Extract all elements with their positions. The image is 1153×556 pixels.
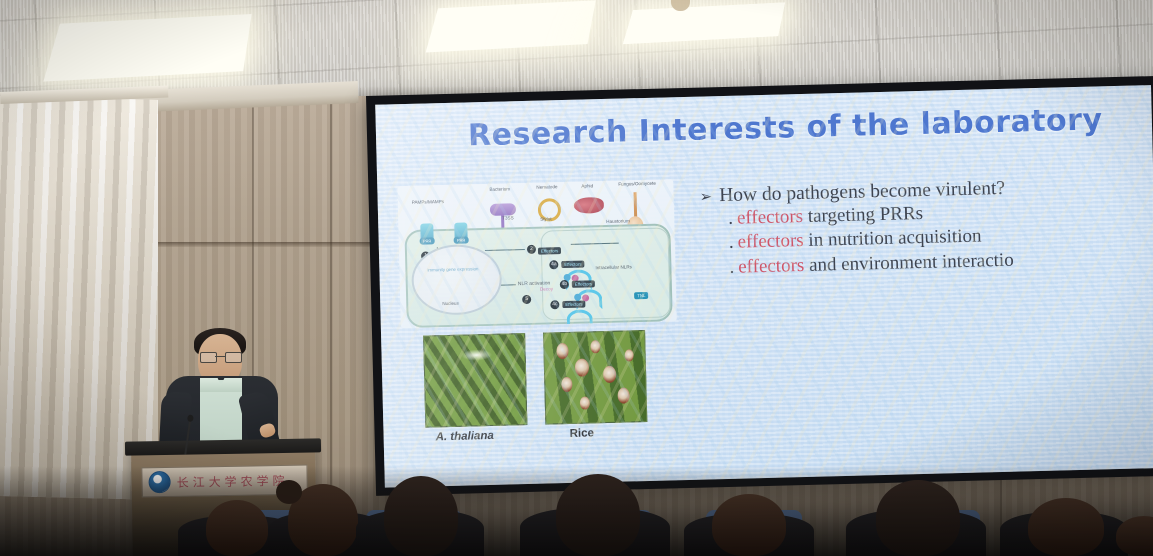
bullet-rest-3: and environment interactio [804,249,1014,275]
diagram-label-prr-1: PRR [420,237,435,244]
diagram-label-nematode: Nematode [536,184,557,190]
speaker-glasses-icon [200,352,240,361]
slide-title: Research Interests of the laboratory [468,101,1153,154]
diagram-label-nucleus: Nucleus [442,301,459,306]
tnl-pill: TNL [634,292,648,299]
effectors-pill-2: Effectors [561,261,584,269]
bullet-arrow-icon: ➢ [699,187,712,205]
diagram-label-haustorium: Haustorium [606,218,630,224]
blast-lesion [575,358,589,376]
lecture-hall-screenshot: Research Interests of the laboratory ➢Ho… [0,0,1153,556]
bullet-dot-marker: . [728,208,733,229]
bullet-dot-marker: . [729,232,734,253]
ceiling-light-panel-2 [426,0,596,52]
diagram-label-intracellular-nlrs: Intracellular NLRs [595,264,632,270]
photo-arabidopsis [423,333,527,428]
podium-nameplate-text: 长江大学农学院 [176,471,288,490]
ceiling-light-panel-1 [43,14,251,82]
aphid-icon [574,197,604,214]
slide-bullet-block: ➢How do pathogens become virulent? .effe… [699,172,1153,281]
blast-lesion [580,396,590,409]
bullet-highlight-2: effectors [737,230,804,253]
blast-lesion [561,377,572,392]
blast-lesion [624,349,633,361]
bullet-highlight-3: effectors [738,255,805,278]
glasses-lens-left [200,352,217,363]
projection-screen-bezel: Research Interests of the laboratory ➢Ho… [366,76,1153,496]
audience-hair-bun [276,480,302,504]
audience-head [712,494,786,556]
photo-rice-leaves [543,330,647,425]
bullet-dot-marker: . [729,256,734,277]
audience-head [556,474,640,556]
plant-cell-inner-outline [540,227,670,320]
effectors-pill-3: Effectors [572,280,595,288]
blast-lesion [603,366,616,383]
diagram-label-prr-2: PRR [454,236,469,243]
glasses-bridge [215,356,225,357]
bullet-rest-1: targeting PRRs [803,203,923,227]
podium-top-surface [125,438,321,455]
effectors-pill-4: Effectors [562,301,585,309]
photo-caption-arabidopsis: A. thaliana [436,430,494,443]
diagram-label-fungus: Fungus/Oomycete [618,181,656,187]
window-curtain [0,96,158,500]
diagram-label-decoy: Decoy [540,286,553,291]
audience-head [1028,498,1104,556]
diagram-label-t3ss: T3SS [502,215,514,220]
diagram-label-bacterium: Bacterium [489,186,510,192]
fungus-hypha-icon [634,192,638,218]
glasses-lens-right [225,352,242,363]
plant-immunity-diagram: PAMPs/MAMPs Bacterium Nematode Aphid Fun… [397,179,677,328]
projection-screen: Research Interests of the laboratory ➢Ho… [375,85,1153,488]
diagram-label-nlr-activation: NLR activation [518,280,551,287]
diagram-label-stylet: Stylet [540,216,552,221]
audience-head [384,476,458,556]
blast-lesion [617,387,629,403]
effectors-pill-1: Effectors [538,247,561,255]
bullet-highlight-1: effectors [737,206,804,229]
bullet-rest-2: in nutrition acquisition [803,226,981,251]
nlr-icon-3 [566,309,592,328]
diagram-label-pamps: PAMPs/MAMPs [412,199,444,205]
audience-head [876,480,960,556]
audience-head [206,500,268,556]
blast-lesion [590,340,600,353]
curtain-shading [0,96,158,500]
photo-caption-rice: Rice [569,427,594,440]
diagram-label-aphid: Aphid [581,183,593,188]
blast-lesion [556,343,568,359]
university-emblem-icon [148,471,170,493]
